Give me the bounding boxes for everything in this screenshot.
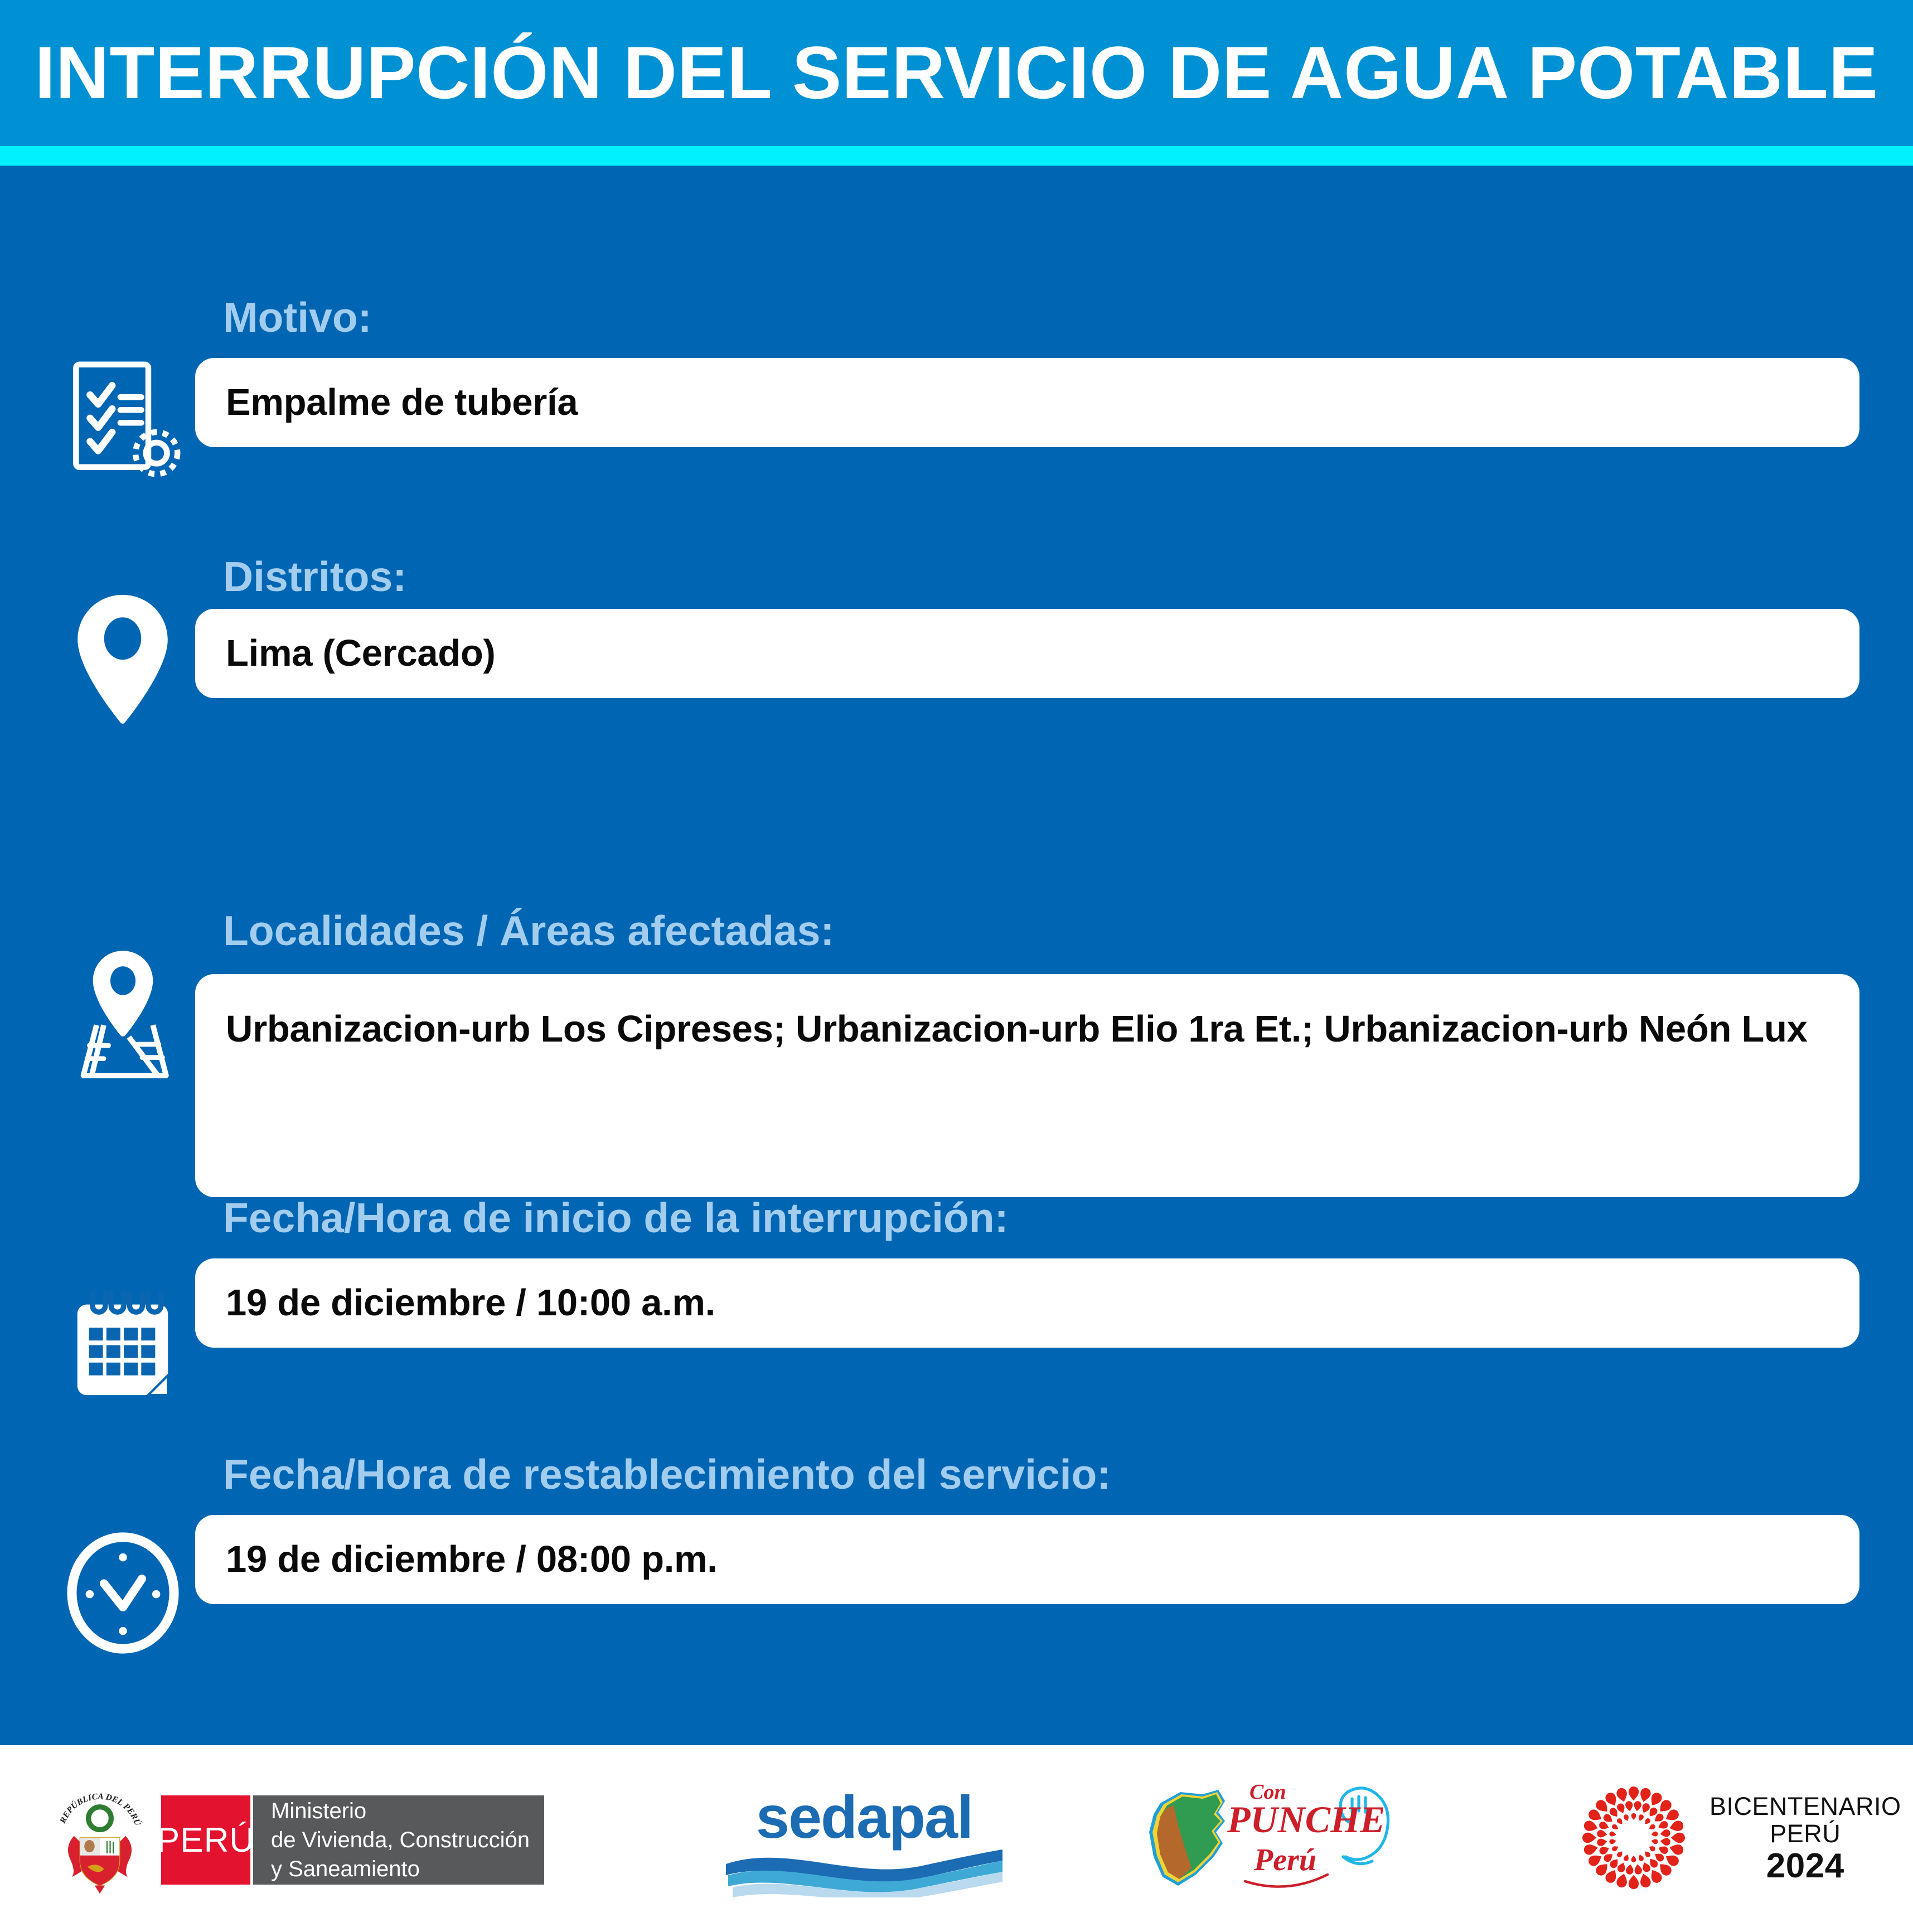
distritos-label: Distritos: [223,556,406,598]
distritos-field: Lima (Cercado) [195,609,1859,698]
fecha-inicio-field: 19 de diciembre / 10:00 a.m. [195,1258,1859,1348]
distritos-value: Lima (Cercado) [226,631,496,676]
calendar-icon [53,1281,192,1409]
peru-label: PERÚ [157,1820,255,1860]
con-punche-peru-logo: Con PUNCHE Perú [1129,1779,1419,1907]
motivo-value: Empalme de tubería [226,380,578,425]
sedapal-logo: sedapal [719,1789,1009,1900]
svg-text:REPÚBLICA DEL PERÚ: REPÚBLICA DEL PERÚ [58,1792,143,1828]
bicentenario-burst-icon [1572,1780,1695,1897]
fecha-inicio-label: Fecha/Hora de inicio de la interrupción: [223,1197,1009,1239]
clock-icon [53,1526,192,1660]
punche-line-3: Perú [1253,1843,1316,1877]
bicentenario-logo: BICENTENARIO PERÚ 2024 [1572,1780,1901,1897]
poster-header: INTERRUPCIÓN DEL SERVICIO DE AGUA POTABL… [0,0,1913,146]
map-with-pin-icon [53,932,192,1094]
ministry-line-3: y Saneamiento [271,1854,530,1883]
poster-footer: REPÚBLICA DEL PERÚ PERÚ [0,1745,1913,1932]
ministry-name-block: Ministerio de Vivienda, Construcción y S… [253,1795,544,1885]
clipboard-checklist-gear-icon [53,352,192,486]
localidades-value: Urbanizacion-urb Los Cipreses; Urbanizac… [226,1006,1808,1052]
localidades-field: Urbanizacion-urb Los Cipreses; Urbanizac… [195,974,1859,1197]
header-accent-stripe [0,146,1913,166]
bicentenario-line-3: 2024 [1709,1848,1901,1884]
ministry-line-1: Ministerio [271,1797,530,1826]
map-pin-icon [53,589,192,729]
poster-root: INTERRUPCIÓN DEL SERVICIO DE AGUA POTABL… [0,0,1913,1932]
localidades-label: Localidades / Áreas afectadas: [223,910,834,952]
restablecimiento-field: 19 de diciembre / 08:00 p.m. [195,1515,1859,1604]
fecha-inicio-value: 19 de diciembre / 10:00 a.m. [226,1280,715,1326]
ministry-logo: REPÚBLICA DEL PERÚ PERÚ [53,1784,544,1896]
bicentenario-line-1: BICENTENARIO [1709,1793,1901,1820]
restablecimiento-value: 19 de diciembre / 08:00 p.m. [226,1537,718,1582]
bicentenario-text-block: BICENTENARIO PERÚ 2024 [1709,1793,1901,1885]
page-title: INTERRUPCIÓN DEL SERVICIO DE AGUA POTABL… [35,36,1878,110]
poster-body: Motivo: Empalme de tubería Distritos: Li… [0,166,1913,1745]
restablecimiento-label: Fecha/Hora de restablecimiento del servi… [223,1454,1111,1495]
sedapal-wave-icon [719,1846,1009,1897]
punche-line-2: PUNCHE [1227,1798,1385,1841]
peru-wordmark: PERÚ [161,1795,250,1885]
peru-coat-of-arms-icon: REPÚBLICA DEL PERÚ [53,1784,147,1896]
motivo-label: Motivo: [223,297,372,338]
bicentenario-line-2: PERÚ [1709,1820,1901,1848]
ministry-line-2: de Vivienda, Construcción [271,1826,530,1854]
sedapal-wordmark: sedapal [719,1789,1009,1846]
peru-map-icon [1149,1790,1225,1886]
motivo-field: Empalme de tubería [195,358,1859,447]
